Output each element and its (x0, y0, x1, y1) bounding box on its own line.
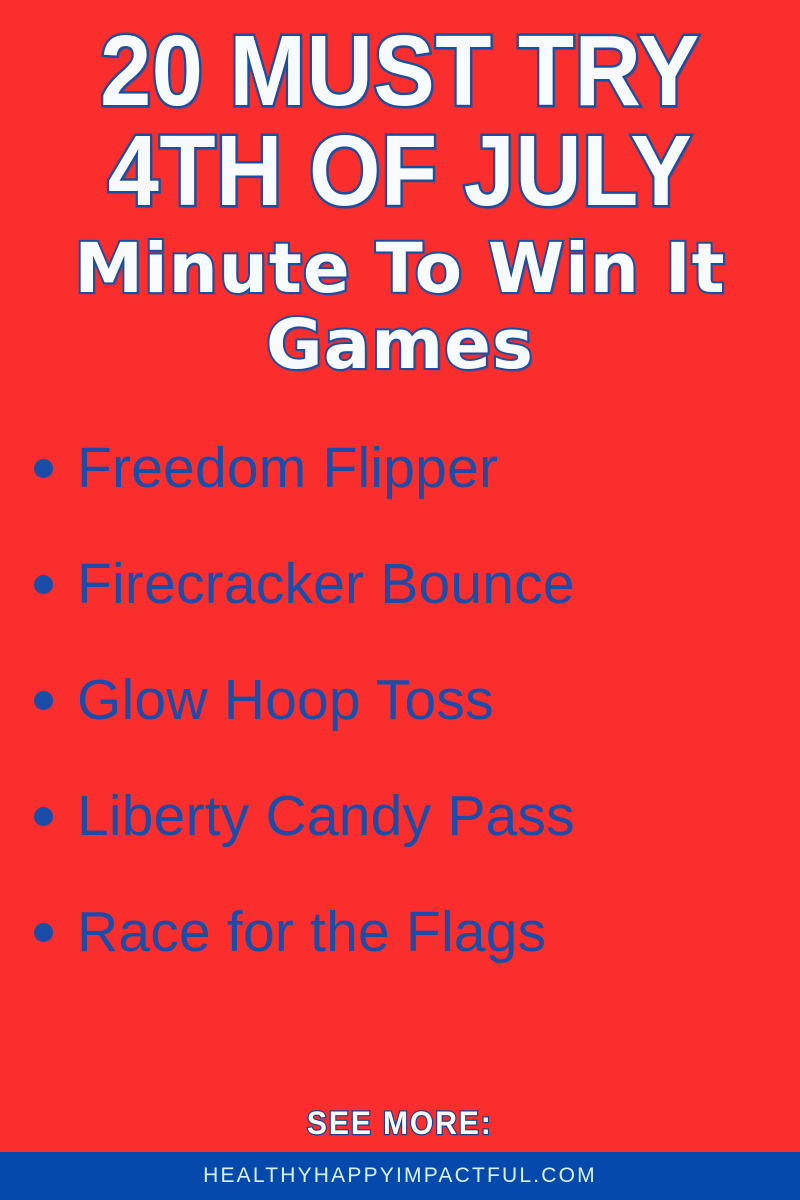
list-item: Race for the Flags (34, 875, 800, 991)
headline-line-2: 4TH OF JULY (32, 122, 768, 220)
footer-website-url: HEALTHYHAPPYIMPACTFUL.COM (203, 1164, 597, 1188)
game-list: Freedom Flipper Firecracker Bounce Glow … (0, 381, 800, 1105)
headline-line-3: Minute To Win It (0, 234, 800, 304)
headline-line-1: 20 MUST TRY (32, 22, 768, 120)
list-item: Liberty Candy Pass (34, 759, 800, 875)
list-item: Firecracker Bounce (34, 527, 800, 643)
game-label: Liberty Candy Pass (77, 788, 575, 845)
game-label: Freedom Flipper (77, 440, 498, 497)
game-label: Race for the Flags (77, 904, 546, 961)
list-item: Glow Hoop Toss (34, 643, 800, 759)
game-label: Glow Hoop Toss (77, 672, 494, 729)
footer-bar: HEALTHYHAPPYIMPACTFUL.COM (0, 1152, 800, 1200)
list-item: Freedom Flipper (34, 411, 800, 527)
game-label: Firecracker Bounce (77, 556, 575, 613)
pinterest-pin-graphic: 20 MUST TRY 4TH OF JULY Minute To Win It… (0, 0, 800, 1200)
bullet-dot-icon (34, 807, 53, 826)
bullet-dot-icon (34, 923, 53, 942)
see-more-label: SEE MORE: (307, 1105, 493, 1142)
headline-line-4: Games (0, 310, 800, 380)
bullet-dot-icon (34, 691, 53, 710)
bullet-dot-icon (34, 575, 53, 594)
see-more-block: SEE MORE: (0, 1105, 800, 1152)
bullet-dot-icon (34, 459, 53, 478)
headline-block: 20 MUST TRY 4TH OF JULY Minute To Win It… (0, 0, 800, 381)
